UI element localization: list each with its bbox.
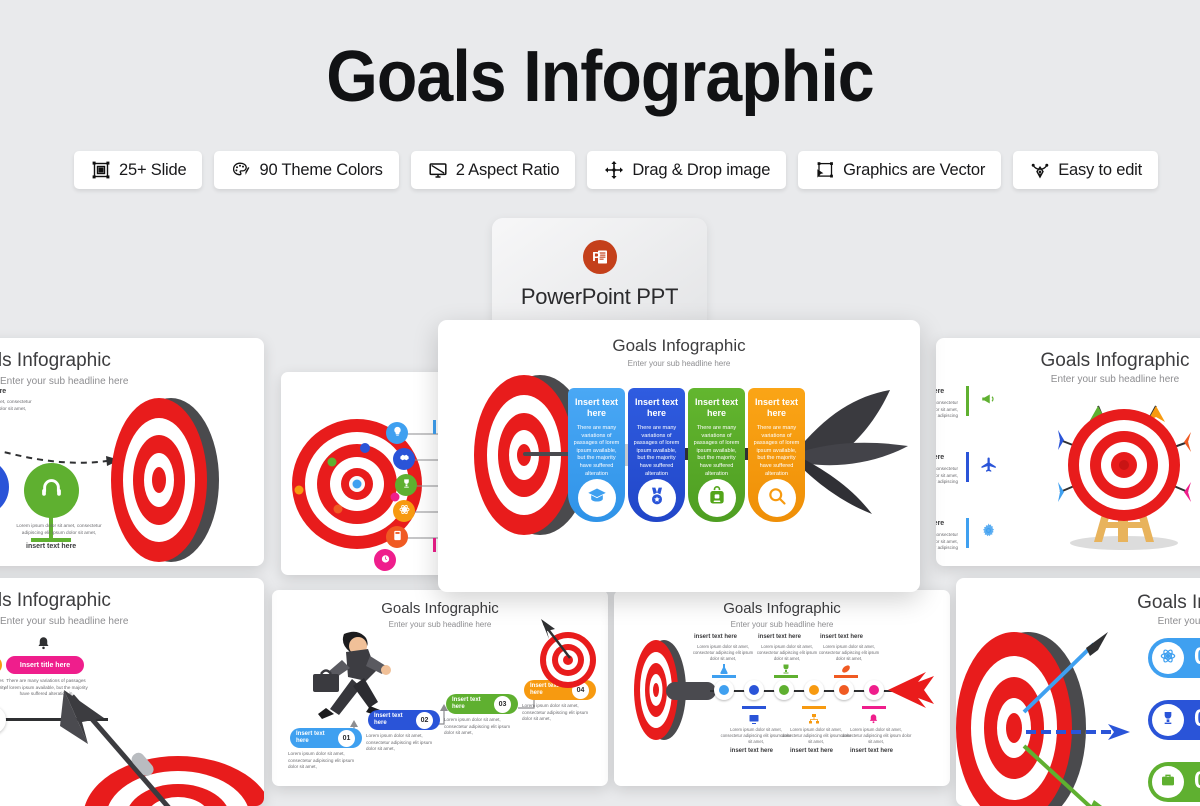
bar-icon-circle: [1152, 642, 1184, 674]
vector-node-icon: [814, 159, 836, 181]
feature-badge-label: 2 Aspect Ratio: [456, 161, 560, 180]
feature-badge-bar: 25+ Slide 90 Theme Colors 2 Aspect Ratio…: [74, 151, 1128, 189]
item-body: Lorem ipsum dolor sit amet, consectetur …: [936, 400, 958, 420]
column-icon-circle: [638, 479, 676, 517]
magnifier-icon: [767, 486, 787, 511]
accent-bar: [742, 706, 766, 709]
bullseye-target-icon: [956, 628, 1176, 806]
lightbulb-icon: [392, 424, 403, 442]
backpack-icon: [707, 486, 727, 511]
powerpoint-logo-icon: P: [583, 240, 617, 274]
accent-bar: [433, 538, 436, 552]
accent-bar: [433, 420, 436, 434]
step-pill[interactable]: Insert text here 03: [446, 694, 518, 714]
feature-badge-aspect-ratio[interactable]: 2 Aspect Ratio: [411, 151, 576, 189]
feature-badge-drag-drop[interactable]: Drag & Drop image: [587, 151, 786, 189]
column-heading: Insert text here: [572, 397, 622, 419]
alarm-clock-icon: [380, 551, 391, 569]
column-heading: Insert text here: [632, 397, 682, 419]
step-label: Insert text here: [290, 731, 338, 745]
column-body: There are many variations of passages of…: [633, 425, 681, 478]
slide-title: Goals Infographic: [438, 336, 920, 356]
column-heading: Insert text here: [692, 397, 742, 419]
item-label: insert text here: [790, 748, 833, 754]
megaphone-icon: [980, 390, 998, 413]
timeline-title-pill[interactable]: Insert title here: [0, 656, 2, 674]
row-icon-circle[interactable]: [395, 474, 417, 496]
timeline-node[interactable]: [804, 680, 824, 700]
row-icon-circle[interactable]: [386, 526, 408, 548]
atom-icon: [399, 502, 410, 520]
step-label: insert text here: [26, 543, 76, 550]
step-label: Insert text here: [446, 697, 494, 711]
slide-title: Goals Infographic: [936, 350, 1200, 372]
info-column[interactable]: Insert text here There are many variatio…: [568, 388, 625, 522]
bar-icon-circle: [1152, 766, 1184, 798]
bullseye-target-icon: [524, 616, 608, 692]
feature-badge-vector[interactable]: Graphics are Vector: [798, 151, 1001, 189]
slide-title: Goals Infographic: [614, 600, 950, 617]
stem-bar: [31, 538, 71, 542]
graduation-cap-icon: [587, 486, 607, 511]
info-column[interactable]: Insert text here There are many variatio…: [688, 388, 745, 522]
row-icon-circle[interactable]: [374, 549, 396, 571]
step-number: 02: [416, 712, 433, 729]
info-bar[interactable]: 0: [1148, 762, 1200, 802]
item-body: Lorem ipsum dolor sit amet, consectetur …: [936, 532, 958, 552]
step-pill[interactable]: Insert text here 01: [290, 728, 362, 748]
slide-thumbnail-bottom-left[interactable]: Goals Infographic Enter your sub headlin…: [0, 578, 264, 806]
pen-nib-icon: [1029, 159, 1051, 181]
item-body: Lorem ipsum dolor sit amet, consectetur …: [816, 644, 882, 662]
atom-icon: [1160, 648, 1176, 669]
trophy-icon: [1160, 710, 1176, 731]
step-label: insert text here: [0, 388, 6, 395]
slide-subtitle: Enter your sub headline here: [0, 616, 264, 627]
node-dot: [839, 685, 849, 695]
step-body: Lorem ipsum dolor sit amet, consectetur …: [522, 703, 598, 723]
target-on-tripod-icon: [1036, 380, 1200, 560]
timeline-node[interactable]: [0, 706, 6, 734]
accent-bar: [862, 706, 886, 709]
accent-bar: [966, 386, 969, 416]
feature-badge-label: 90 Theme Colors: [259, 161, 382, 180]
item-label: insert text here: [850, 748, 893, 754]
color-palette-icon: [230, 159, 252, 181]
step-icon-circle[interactable]: [24, 463, 79, 518]
step-body: Lorem ipsum dolor sit amet, consectetur …: [12, 524, 106, 538]
dart-body: [666, 682, 716, 700]
timeline-title-pill[interactable]: Insert title here: [6, 656, 84, 674]
accent-bar: [834, 675, 858, 678]
step-number: 01: [338, 730, 355, 747]
node-dot: [749, 685, 759, 695]
step-label: Insert text here: [368, 713, 416, 727]
airplane-icon: [980, 456, 998, 479]
feature-badge-label: Drag & Drop image: [632, 161, 770, 180]
step-body: Lorem ipsum dolor sit amet, consectetur …: [444, 717, 520, 737]
item-label: insert text here: [758, 634, 801, 640]
column-body: There are many variations of passages of…: [693, 425, 741, 478]
item-label: insert text here: [820, 634, 863, 640]
step-body: Lorem ipsum dolor sit amet, consectetur …: [288, 751, 364, 771]
powerpoint-card-label: PowerPoint PPT: [492, 284, 707, 310]
slide-subtitle: Enter your sub headline here: [438, 359, 920, 368]
column-body: There are many variations of passages of…: [753, 425, 801, 478]
item-label: insert text here: [936, 388, 944, 395]
timeline-node[interactable]: [744, 680, 764, 700]
item-label: insert text here: [936, 454, 944, 461]
info-bar[interactable]: 0: [1148, 700, 1200, 740]
column-icon-circle: [578, 479, 616, 517]
slide-subtitle: Enter your sub headline here: [956, 616, 1200, 627]
row-icon-circle[interactable]: [386, 422, 408, 444]
slide-title: Goals Infographic: [0, 590, 264, 612]
bar-number: 0: [1194, 705, 1200, 733]
timeline-node[interactable]: [774, 680, 794, 700]
item-label: insert text here: [694, 634, 737, 640]
pill-label: Insert title here: [20, 662, 70, 669]
item-label: insert text here: [730, 748, 773, 754]
column-icon-circle: [758, 479, 796, 517]
gear-icon: [980, 522, 997, 544]
bar-number: 0: [1194, 767, 1200, 795]
feature-badge-label: Graphics are Vector: [843, 161, 985, 180]
svg-text:P: P: [592, 250, 600, 264]
slide-title: Goals Infographic: [272, 600, 608, 617]
trophy-icon: [401, 476, 412, 494]
calculator-icon: [392, 528, 403, 546]
slide-title: Goals Infographic: [956, 592, 1200, 614]
accent-bar: [966, 518, 969, 548]
medal-icon: [647, 486, 667, 511]
headphones-icon: [39, 476, 64, 506]
bullseye-target-icon: [83, 756, 264, 806]
accent-bar: [966, 452, 969, 482]
row-icon-circle[interactable]: [393, 500, 415, 522]
slide-subtitle: Enter your sub headline here: [0, 376, 264, 387]
accent-bar: [774, 675, 798, 678]
dart-flight-icon: [786, 388, 916, 518]
move-arrows-icon: [603, 159, 625, 181]
step-pill[interactable]: Insert text here 02: [368, 710, 440, 730]
bar-icon-circle: [1152, 704, 1184, 736]
node-dot: [869, 685, 879, 695]
red-dart-fletching-icon: [888, 670, 944, 714]
accent-bar: [712, 675, 736, 678]
accent-bar: [802, 706, 826, 709]
timeline-node[interactable]: [864, 680, 884, 700]
node-dot: [779, 685, 789, 695]
node-dot: [809, 685, 819, 695]
timeline-node[interactable]: [714, 680, 734, 700]
feature-badge-easy-edit[interactable]: Easy to edit: [1013, 151, 1158, 189]
step-number: 03: [494, 696, 511, 713]
row-icon-circle[interactable]: [393, 448, 415, 470]
handshake-icon: [399, 450, 410, 468]
column-icon-circle: [698, 479, 736, 517]
column-body: There are many variations of passages of…: [573, 425, 621, 478]
timeline-node[interactable]: [834, 680, 854, 700]
info-bar[interactable]: 0: [1148, 638, 1200, 678]
slide-subtitle: Enter your sub headline here: [614, 620, 950, 629]
feature-badge-slide-count[interactable]: 25+ Slide: [74, 151, 202, 189]
info-column[interactable]: Insert text here There are many variatio…: [748, 388, 805, 522]
item-label: insert text here: [936, 520, 944, 527]
feature-badge-label: Easy to edit: [1058, 161, 1142, 180]
dart-and-target: [58, 688, 264, 806]
item-body: Lorem ipsum dolor sit amet, consectetur …: [690, 644, 756, 662]
feature-badge-theme-colors[interactable]: 90 Theme Colors: [214, 151, 398, 189]
item-body: Lorem ipsum dolor sit amet, consectetur …: [936, 466, 958, 486]
slide-thumbnail-bottom-mid-1[interactable]: Goals Infographic Enter your sub headlin…: [272, 590, 608, 786]
slide-thumbnail-bottom-mid-2[interactable]: Goals Infographic Enter your sub headlin…: [614, 590, 950, 786]
bar-number: 0: [1194, 643, 1200, 671]
briefcase-icon: [1160, 772, 1176, 793]
slide-main-preview[interactable]: Goals Infographic Enter your sub headlin…: [438, 320, 920, 592]
monitor-aspect-icon: [427, 159, 449, 181]
page-title: Goals Infographic: [48, 38, 1152, 116]
slide-thumbnail-bottom-right[interactable]: Goals Infographic Enter your sub headlin…: [956, 578, 1200, 806]
slide-frame-icon: [90, 159, 112, 181]
slide-thumbnail-top-right[interactable]: Goals Infographic Enter your sub headlin…: [936, 338, 1200, 566]
slide-thumbnail-top-left[interactable]: Goals Infographic Enter your sub headlin…: [0, 338, 264, 566]
info-column[interactable]: Insert text here There are many variatio…: [628, 388, 685, 522]
slide-title: Goals Infographic: [0, 350, 264, 372]
item-body: Lorem ipsum dolor sit amet, consectetur …: [840, 727, 912, 745]
item-body: Lorem ipsum dolor sit amet, consectetur …: [754, 644, 820, 662]
feature-badge-label: 25+ Slide: [119, 161, 186, 180]
node-dot: [719, 685, 729, 695]
bell-icon: [36, 635, 51, 657]
column-heading: Insert text here: [752, 397, 802, 419]
bullseye-target-icon: [93, 388, 264, 566]
step-body: Lorem ipsum dolor sit amet, consectetur …: [0, 400, 36, 414]
step-body: Lorem ipsum dolor sit amet, consectetur …: [366, 733, 442, 753]
